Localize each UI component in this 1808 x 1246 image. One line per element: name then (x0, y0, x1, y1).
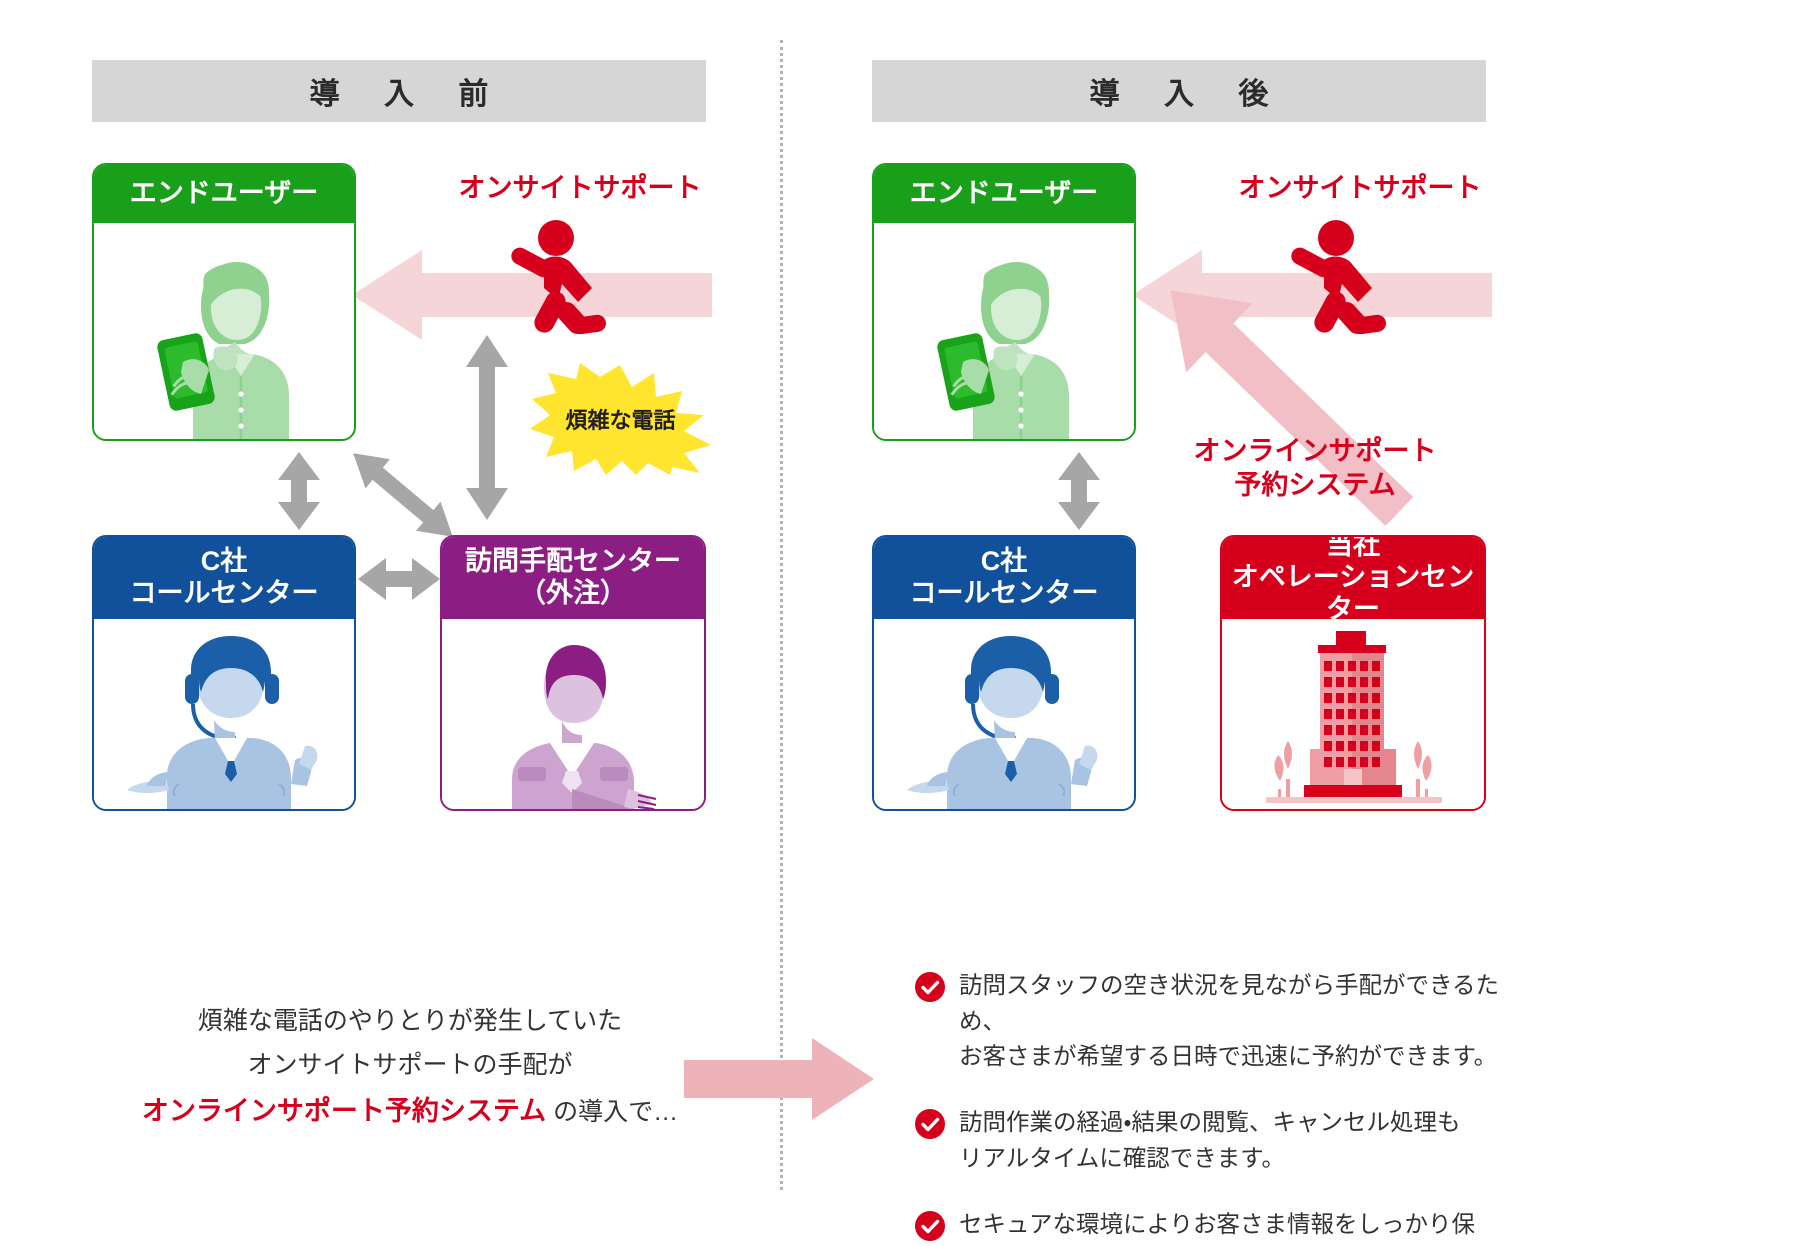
benefits-list: 訪問スタッフの空き状況を見ながら手配ができるため、 お客さまが希望する日時で迅速… (915, 968, 1515, 1246)
online-support-system-label: オンラインサポート 予約システム (1150, 435, 1480, 503)
burst-callout-before: 煩雑な電話 (528, 363, 713, 475)
gray-arrow-diagonal-before (338, 440, 468, 550)
card-operation-center-after-title: 当社 (1326, 535, 1380, 562)
card-call-center-before-header: C社 コールセンター (94, 537, 354, 619)
before-caption-line1: 煩雑な電話のやりとりが発生していた (120, 1000, 700, 1044)
card-operation-center-after: 当社 オペレーションセンター (1220, 535, 1486, 811)
before-caption: 煩雑な電話のやりとりが発生していた オンサイトサポートの手配が オンラインサポー… (120, 1000, 700, 1135)
card-end-user-after-body (874, 223, 1134, 439)
section-header-before-label: 導 入 前 (292, 69, 507, 113)
card-operation-center-after-body (1222, 619, 1484, 809)
gray-arrow-horizontal-before (358, 558, 440, 600)
benefit-line-2: リアルタイムに確認できます。 (959, 1141, 1461, 1177)
benefit-line-1: 訪問スタッフの空き状況を見ながら手配ができるため、 (959, 968, 1515, 1039)
benefit-line-1: 訪問作業の経過・結果の閲覧、キャンセル処理も (959, 1105, 1461, 1141)
card-dispatch-center-before-title: 訪問手配センター (465, 546, 681, 578)
office-building-icon-after (1258, 629, 1448, 809)
before-caption-line2: オンサイトサポートの手配が (120, 1044, 700, 1088)
check-circle-icon (915, 1211, 945, 1241)
card-call-center-after-body (874, 619, 1134, 809)
card-call-center-after-header: C社 コールセンター (874, 537, 1134, 619)
check-circle-icon (915, 972, 945, 1002)
benefit-line-2: お客さまが希望する日時で迅速に予約ができます。 (959, 1039, 1515, 1075)
card-dispatch-center-before-header: 訪問手配センター （外注） (442, 537, 704, 619)
before-caption-emphasis: オンラインサポート予約システム (142, 1096, 546, 1126)
online-support-system-label-line2: 予約システム (1150, 469, 1480, 503)
card-call-center-before-subtitle: コールセンター (130, 578, 319, 610)
card-end-user-after-header: エンドユーザー (874, 165, 1134, 223)
diagram-canvas: 導 入 前 導 入 後 オンサイトサポート エンドユーザー (0, 0, 1808, 1246)
card-end-user-before-header: エンドユーザー (94, 165, 354, 223)
benefit-text: セキュアな環境によりお客さま情報をしっかり保護。 (959, 1207, 1515, 1246)
check-circle-icon (915, 1109, 945, 1139)
card-end-user-after-title: エンドユーザー (910, 178, 1098, 210)
benefit-line-1: セキュアな環境によりお客さま情報をしっかり保護。 (959, 1207, 1515, 1246)
operator-headset-icon-after (899, 634, 1109, 809)
section-header-after: 導 入 後 (872, 60, 1486, 122)
onsite-support-label-after: オンサイトサポート (1220, 172, 1500, 206)
gray-arrow-vertical-before (466, 335, 508, 520)
card-end-user-before: エンドユーザー (92, 163, 356, 441)
card-dispatch-center-before: 訪問手配センター （外注） (440, 535, 706, 811)
card-dispatch-center-before-subtitle: （外注） (519, 578, 627, 610)
card-operation-center-after-subtitle: オペレーションセンター (1222, 562, 1484, 626)
card-call-center-after-title: C社 (981, 546, 1028, 578)
section-header-after-label: 導 入 後 (1072, 69, 1287, 113)
card-end-user-before-body (94, 223, 354, 439)
gray-arrow-vertical-callcenter-before (278, 452, 320, 530)
benefit-text: 訪問スタッフの空き状況を見ながら手配ができるため、 お客さまが希望する日時で迅速… (959, 968, 1515, 1075)
benefit-item: 訪問スタッフの空き状況を見ながら手配ができるため、 お客さまが希望する日時で迅速… (915, 968, 1515, 1075)
benefit-item: 訪問作業の経過・結果の閲覧、キャンセル処理も リアルタイムに確認できます。 (915, 1105, 1515, 1176)
burst-label-before: 煩雑な電話 (528, 403, 713, 435)
woman-smartphone-icon-before (149, 244, 299, 439)
card-operation-center-after-header: 当社 オペレーションセンター (1222, 537, 1484, 619)
card-call-center-after: C社 コールセンター (872, 535, 1136, 811)
card-call-center-after-subtitle: コールセンター (910, 578, 1099, 610)
before-caption-tail: の導入で… (546, 1098, 678, 1126)
online-support-system-label-line1: オンラインサポート (1150, 435, 1480, 469)
before-caption-line3: オンラインサポート予約システム の導入で… (120, 1088, 700, 1135)
card-end-user-before-title: エンドユーザー (130, 178, 318, 210)
card-call-center-before: C社 コールセンター (92, 535, 356, 811)
card-call-center-before-body (94, 619, 354, 809)
woman-smartphone-icon-after (929, 244, 1079, 439)
card-end-user-after: エンドユーザー (872, 163, 1136, 441)
benefit-text: 訪問作業の経過・結果の閲覧、キャンセル処理も リアルタイムに確認できます。 (959, 1105, 1461, 1176)
transition-arrow (684, 1038, 874, 1120)
operator-headset-icon-before (119, 634, 329, 809)
benefit-item: セキュアな環境によりお客さま情報をしっかり保護。 (915, 1207, 1515, 1246)
card-dispatch-center-before-body (442, 619, 704, 809)
onsite-support-label-before: オンサイトサポート (440, 172, 720, 206)
gray-arrow-vertical-after (1058, 452, 1100, 530)
online-support-arrow-after (1125, 236, 1445, 566)
running-person-icon-before (500, 216, 610, 341)
card-call-center-before-title: C社 (201, 546, 248, 578)
section-divider (780, 40, 783, 1190)
field-worker-icon-before (478, 639, 668, 809)
section-header-before: 導 入 前 (92, 60, 706, 122)
